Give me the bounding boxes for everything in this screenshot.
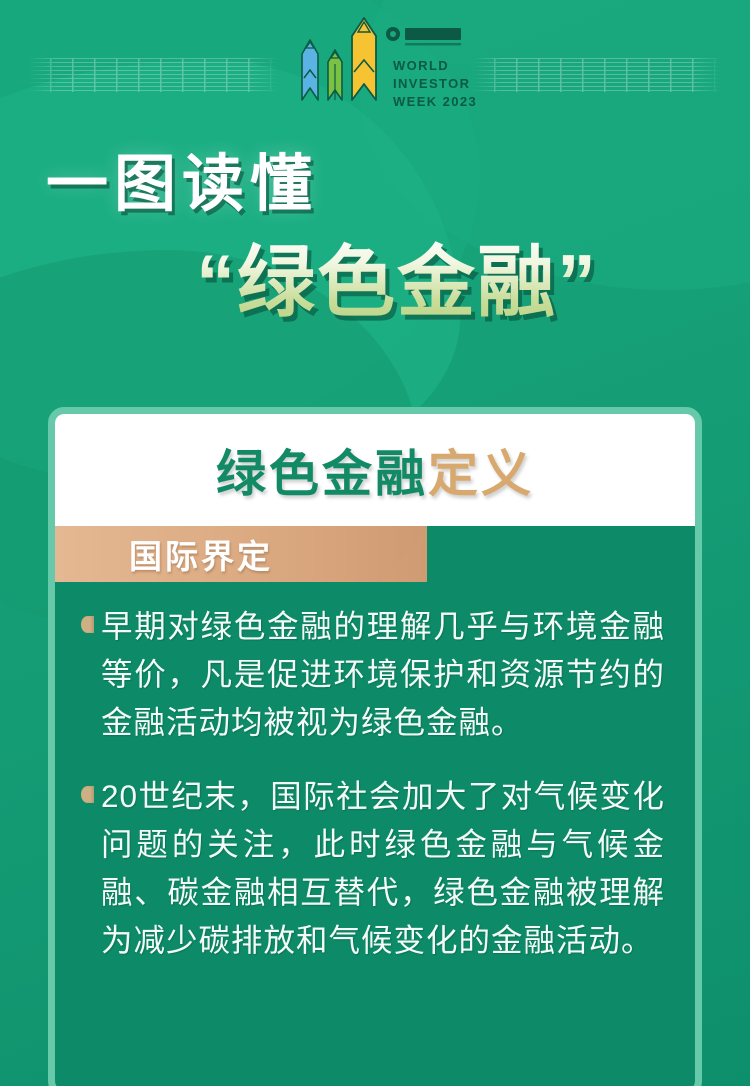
card-body: 早期对绿色金融的理解几乎与环境金融等价，凡是促进环境保护和资源节约的金融活动均被…: [55, 582, 695, 964]
paragraph-text: 早期对绿色金融的理解几乎与环境金融等价，凡是促进环境保护和资源节约的金融活动均被…: [101, 602, 665, 746]
grid-pattern-right: [472, 58, 722, 92]
world-investor-week-logo: WORLD INVESTOR WEEK 2023: [288, 8, 488, 116]
headline-primary: 一图读懂: [46, 133, 318, 223]
infographic-page: WORLD INVESTOR WEEK 2023 一图读懂 “绿色金融” 绿色金…: [0, 0, 750, 1086]
bullet-marker-icon: [81, 616, 94, 633]
pencil-yellow-icon: [352, 18, 376, 100]
card-title-gold: 定义: [428, 446, 534, 502]
paragraph-item: 早期对绿色金融的理解几乎与环境金融等价，凡是促进环境保护和资源节约的金融活动均被…: [81, 602, 665, 746]
pencil-blue-icon: [302, 40, 318, 100]
headline-secondary: “绿色金融”: [196, 220, 598, 332]
section-ribbon-label: 国际界定: [129, 530, 273, 578]
card-title: 绿色金融定义: [216, 434, 534, 506]
logo-line-2: INVESTOR: [393, 76, 470, 91]
bullet-marker-icon: [81, 786, 94, 803]
paragraph-text: 20世纪末，国际社会加大了对气候变化问题的关注，此时绿色金融与气候金融、碳金融相…: [101, 772, 665, 964]
logo-line-1: WORLD: [393, 58, 449, 73]
pencil-green-icon: [328, 50, 342, 100]
card-header: 绿色金融定义: [55, 414, 695, 526]
section-ribbon-inner: 国际界定: [55, 526, 427, 582]
definition-card: 绿色金融定义 国际界定 早期对绿色金融的理解几乎与环境金融等价，凡是促进环境保护…: [48, 407, 702, 1086]
grid-pattern-left: [28, 58, 278, 92]
section-ribbon: 国际界定: [55, 526, 427, 582]
partner-logo-icon: [386, 27, 461, 45]
paragraph-item: 20世纪末，国际社会加大了对气候变化问题的关注，此时绿色金融与气候金融、碳金融相…: [81, 772, 665, 964]
card-title-green: 绿色金融: [216, 446, 428, 502]
logo-line-3: WEEK 2023: [393, 94, 477, 109]
